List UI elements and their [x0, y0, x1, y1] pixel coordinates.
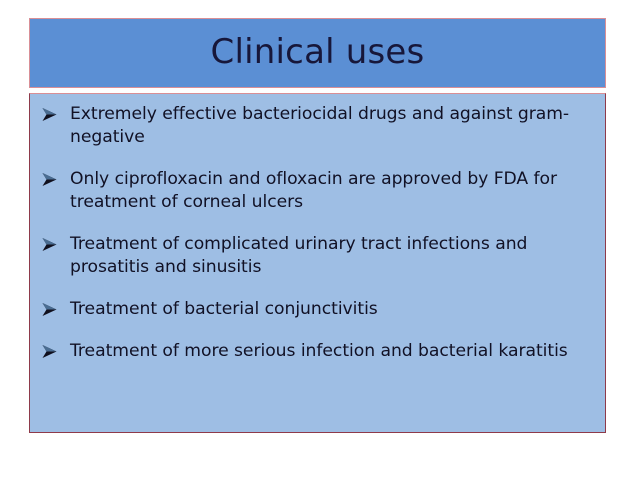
arrowhead-bullet-icon: [41, 172, 58, 187]
list-item-label: Only ciprofloxacin and ofloxacin are app…: [70, 168, 595, 214]
arrowhead-bullet-icon: [41, 107, 58, 122]
list-item-label: Treatment of complicated urinary tract i…: [70, 233, 595, 279]
arrowhead-bullet-icon: [41, 344, 58, 359]
list-item-label: Treatment of more serious infection and …: [70, 340, 595, 363]
list-item: Extremely effective bacteriocidal drugs …: [39, 103, 595, 149]
list-item: Only ciprofloxacin and ofloxacin are app…: [39, 168, 595, 214]
list-item-label: Treatment of bacterial conjunctivitis: [70, 298, 595, 321]
list-item: Treatment of more serious infection and …: [39, 340, 595, 363]
bullet-list: Extremely effective bacteriocidal drugs …: [39, 103, 595, 363]
arrowhead-bullet-icon: [41, 237, 58, 252]
list-item: Treatment of bacterial conjunctivitis: [39, 298, 595, 321]
list-item-label: Extremely effective bacteriocidal drugs …: [70, 103, 595, 149]
arrowhead-bullet-icon: [41, 302, 58, 317]
slide-body-box: Extremely effective bacteriocidal drugs …: [29, 93, 606, 433]
slide-title-box: Clinical uses: [29, 18, 606, 88]
list-item: Treatment of complicated urinary tract i…: [39, 233, 595, 279]
page-title: Clinical uses: [211, 35, 425, 71]
slide-canvas: Clinical uses Extremely effective bacter…: [0, 0, 638, 479]
